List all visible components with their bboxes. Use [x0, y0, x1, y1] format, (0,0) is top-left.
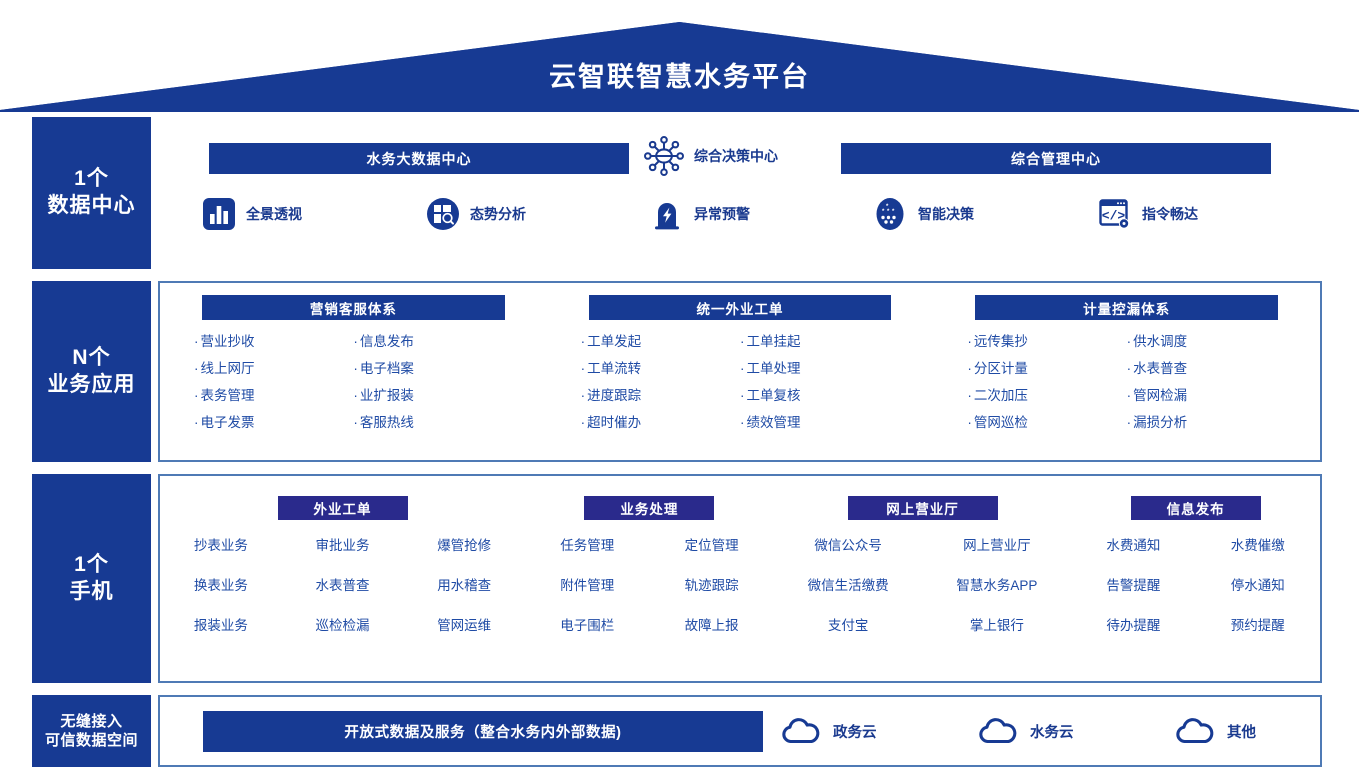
row-label-line1: N个	[72, 345, 110, 372]
list-item[interactable]: 水费催缴	[1196, 534, 1320, 554]
section-title[interactable]: 网上营业厅	[848, 496, 998, 520]
list-item-label: 信息发布	[360, 334, 414, 349]
cloud-government[interactable]: 政务云	[780, 716, 977, 746]
section-online-service-hall: 网上营业厅 微信公众号 网上营业厅 微信生活缴费 智慧水务APP 支付宝 掌上银…	[774, 476, 1071, 681]
list-item[interactable]: 定位管理	[649, 534, 773, 554]
row-label-business-applications: N个 业务应用	[32, 281, 151, 462]
row-label-data-space: 无缝接入 可信数据空间	[32, 695, 151, 767]
cloud-icon	[977, 716, 1019, 746]
list-item[interactable]: ·营业抄收	[194, 330, 353, 350]
list-item[interactable]: ·漏损分析	[1127, 411, 1286, 431]
list-item-label: 工单复核	[747, 388, 801, 403]
list-item[interactable]: 抄表业务	[160, 534, 282, 554]
list-item[interactable]: ·业扩报装	[353, 384, 512, 404]
row-body-data-center: 水务大数据中心 综合管理中心	[158, 117, 1322, 269]
list-item[interactable]: 任务管理	[525, 534, 649, 554]
alarm-bolt-icon	[650, 197, 684, 231]
section-items: ·工单发起 ·工单挂起 ·工单流转 ·工单处理 ·进度跟踪 ·工单复核 ·超时催…	[567, 330, 914, 431]
list-item[interactable]: 支付宝	[774, 614, 923, 634]
list-item-label: 漏损分析	[1133, 415, 1187, 430]
decision-center-group[interactable]: 综合决策中心	[643, 135, 778, 177]
list-item-label: 绩效管理	[747, 415, 801, 430]
section-items: 抄表业务 审批业务 爆管抢修 换表业务 水表普查 用水稽查 报装业务 巡检检漏 …	[160, 534, 525, 634]
row-label-line1: 1个	[74, 552, 109, 579]
list-item[interactable]: 报装业务	[160, 614, 282, 634]
section-business-processing: 业务处理 任务管理 定位管理 附件管理 轨迹跟踪 电子围栏 故障上报	[525, 476, 774, 681]
row-label-line2: 数据中心	[48, 193, 136, 220]
list-item[interactable]: 爆管抢修	[403, 534, 525, 554]
cloud-group: 政务云 水务云 其他	[780, 697, 1359, 765]
platform-roof: 云智联智慧水务平台	[0, 0, 1359, 112]
cloud-other-label: 其他	[1227, 721, 1256, 742]
feature-panorama-label: 全景透视	[246, 204, 302, 224]
section-items: 水费通知 水费催缴 告警提醒 停水通知 待办提醒 预约提醒	[1071, 534, 1320, 634]
list-item-label: 营业抄收	[201, 334, 255, 349]
row-label-line2: 可信数据空间	[45, 731, 138, 750]
list-item[interactable]: ·线上网厅	[194, 357, 353, 377]
list-item[interactable]: ·进度跟踪	[581, 384, 740, 404]
list-item-label: 客服热线	[360, 415, 414, 430]
list-item[interactable]: 停水通知	[1196, 574, 1320, 594]
data-center-features: 全景透视 态势分析	[202, 197, 1322, 231]
section-title[interactable]: 业务处理	[584, 496, 714, 520]
section-metering-leak-control: 计量控漏体系 ·远传集抄 ·供水调度 ·分区计量 ·水表普查 ·二次加压 ·管网…	[933, 283, 1320, 460]
list-item[interactable]: 电子围栏	[525, 614, 649, 634]
list-item[interactable]: 网上营业厅	[923, 534, 1072, 554]
list-item[interactable]: 微信生活缴费	[774, 574, 923, 594]
list-item-label: 分区计量	[974, 361, 1028, 376]
list-item[interactable]: 管网运维	[403, 614, 525, 634]
list-item-label: 管网检漏	[1133, 388, 1187, 403]
list-item-label: 进度跟踪	[587, 388, 641, 403]
list-item[interactable]: ·电子发票	[194, 411, 353, 431]
section-field-work-order: 外业工单 抄表业务 审批业务 爆管抢修 换表业务 水表普查 用水稽查 报装业务 …	[160, 476, 525, 681]
decision-center-label: 综合决策中心	[694, 146, 778, 166]
section-title[interactable]: 信息发布	[1131, 496, 1261, 520]
row-mobile: 1个 手机 外业工单 抄表业务 审批业务 爆管抢修 换表业务 水表普查 用水稽查…	[32, 474, 1322, 683]
list-item[interactable]: 微信公众号	[774, 534, 923, 554]
list-item[interactable]: 换表业务	[160, 574, 282, 594]
section-title[interactable]: 计量控漏体系	[975, 295, 1278, 320]
list-item-label: 表务管理	[201, 388, 255, 403]
ai-brain-icon: * ***	[874, 197, 908, 231]
list-item-label: 工单流转	[587, 361, 641, 376]
list-item[interactable]: ·分区计量	[967, 357, 1126, 377]
list-item-label: 管网巡检	[974, 415, 1028, 430]
feature-command-delivery[interactable]: </> 指令畅达	[1098, 197, 1322, 231]
list-item[interactable]: 巡检检漏	[282, 614, 404, 634]
row-label-line2: 手机	[70, 579, 114, 606]
row-label-mobile: 1个 手机	[32, 474, 151, 683]
list-item[interactable]: ·二次加压	[967, 384, 1126, 404]
list-item[interactable]: ·电子档案	[353, 357, 512, 377]
list-item[interactable]: ·超时催办	[581, 411, 740, 431]
cloud-government-label: 政务云	[833, 721, 877, 742]
list-item[interactable]: ·管网检漏	[1127, 384, 1286, 404]
list-item[interactable]: ·工单处理	[740, 357, 899, 377]
row-label-line1: 1个	[74, 166, 109, 193]
list-item[interactable]: ·供水调度	[1127, 330, 1286, 350]
list-item-label: 工单发起	[587, 334, 641, 349]
feature-anomaly-alert-label: 异常预警	[694, 204, 750, 224]
list-item-label: 业扩报装	[360, 388, 414, 403]
bar-big-data-center[interactable]: 水务大数据中心	[209, 143, 629, 174]
section-marketing-service: 营销客服体系 ·营业抄收 ·信息发布 ·线上网厅 ·电子档案 ·表务管理 ·业扩…	[160, 283, 547, 460]
feature-anomaly-alert[interactable]: 异常预警	[650, 197, 874, 231]
list-item[interactable]: 告警提醒	[1071, 574, 1195, 594]
list-item[interactable]: 掌上银行	[923, 614, 1072, 634]
cloud-icon	[1174, 716, 1216, 746]
list-item-label: 远传集抄	[974, 334, 1028, 349]
list-item[interactable]: ·表务管理	[194, 384, 353, 404]
section-unified-field-work-order: 统一外业工单 ·工单发起 ·工单挂起 ·工单流转 ·工单处理 ·进度跟踪 ·工单…	[547, 283, 934, 460]
list-item[interactable]: 附件管理	[525, 574, 649, 594]
list-item[interactable]: 预约提醒	[1196, 614, 1320, 634]
row-body-data-space: 开放式数据及服务（整合水务内外部数据) 政务云	[158, 695, 1322, 767]
section-title[interactable]: 统一外业工单	[589, 295, 892, 320]
list-item[interactable]: 水费通知	[1071, 534, 1195, 554]
section-items: 任务管理 定位管理 附件管理 轨迹跟踪 电子围栏 故障上报	[525, 534, 774, 634]
list-item[interactable]: 轨迹跟踪	[649, 574, 773, 594]
cloud-water-affairs[interactable]: 水务云	[977, 716, 1174, 746]
list-item[interactable]: ·客服热线	[353, 411, 512, 431]
feature-intelligent-decision-label: 智能决策	[918, 204, 974, 224]
cloud-icon	[780, 716, 822, 746]
list-item-label: 电子档案	[360, 361, 414, 376]
row-label-line1: 无缝接入	[60, 712, 122, 731]
row-data-center: 1个 数据中心 水务大数据中心 综合管理中心	[32, 117, 1322, 269]
list-item-label: 工单挂起	[747, 334, 801, 349]
feature-panorama[interactable]: 全景透视	[202, 197, 426, 231]
row-body-business-applications: 营销客服体系 ·营业抄收 ·信息发布 ·线上网厅 ·电子档案 ·表务管理 ·业扩…	[158, 281, 1322, 462]
list-item[interactable]: ·工单挂起	[740, 330, 899, 350]
bar-open-data-services[interactable]: 开放式数据及服务（整合水务内外部数据)	[203, 711, 763, 752]
list-item[interactable]: ·水表普查	[1127, 357, 1286, 377]
list-item-label: 二次加压	[974, 388, 1028, 403]
architecture-diagram: 云智联智慧水务平台 1个 数据中心 水务大数据中心 综合管理中心	[0, 0, 1359, 783]
section-title[interactable]: 外业工单	[278, 496, 408, 520]
list-item[interactable]: ·信息发布	[353, 330, 512, 350]
cloud-other[interactable]: 其他	[1174, 716, 1359, 746]
row-data-space: 无缝接入 可信数据空间 开放式数据及服务（整合水务内外部数据) 政务云	[32, 695, 1322, 767]
feature-situation-analysis-label: 态势分析	[470, 204, 526, 224]
list-item[interactable]: 故障上报	[649, 614, 773, 634]
list-item-label: 线上网厅	[201, 361, 255, 376]
feature-command-delivery-label: 指令畅达	[1142, 204, 1198, 224]
cloud-water-affairs-label: 水务云	[1030, 721, 1074, 742]
list-item-label: 供水调度	[1133, 334, 1187, 349]
list-item[interactable]: 用水稽查	[403, 574, 525, 594]
network-hub-icon	[643, 135, 685, 177]
feature-intelligent-decision[interactable]: * *** 智能决策	[874, 197, 1098, 231]
list-item[interactable]: 审批业务	[282, 534, 404, 554]
row-body-mobile: 外业工单 抄表业务 审批业务 爆管抢修 换表业务 水表普查 用水稽查 报装业务 …	[158, 474, 1322, 683]
row-label-data-center: 1个 数据中心	[32, 117, 151, 269]
list-item[interactable]: ·工单复核	[740, 384, 899, 404]
list-item[interactable]: ·绩效管理	[740, 411, 899, 431]
list-item[interactable]: ·工单流转	[581, 357, 740, 377]
row-business-applications: N个 业务应用 营销客服体系 ·营业抄收 ·信息发布 ·线上网厅 ·电子档案 ·…	[32, 281, 1322, 462]
section-title[interactable]: 营销客服体系	[202, 295, 505, 320]
section-information-release: 信息发布 水费通知 水费催缴 告警提醒 停水通知 待办提醒 预约提醒	[1071, 476, 1320, 681]
row-label-line2: 业务应用	[48, 372, 136, 399]
page-title: 云智联智慧水务平台	[0, 55, 1359, 94]
list-item[interactable]: 智慧水务APP	[923, 574, 1072, 594]
list-item[interactable]: ·工单发起	[581, 330, 740, 350]
grid-search-icon	[426, 197, 460, 231]
bar-chart-icon	[202, 197, 236, 231]
list-item-label: 电子发票	[201, 415, 255, 430]
code-window-gear-icon: </>	[1098, 197, 1132, 231]
feature-situation-analysis[interactable]: 态势分析	[426, 197, 650, 231]
section-items: ·营业抄收 ·信息发布 ·线上网厅 ·电子档案 ·表务管理 ·业扩报装 ·电子发…	[180, 330, 527, 431]
section-items: ·远传集抄 ·供水调度 ·分区计量 ·水表普查 ·二次加压 ·管网检漏 ·管网巡…	[953, 330, 1300, 431]
list-item-label: 超时催办	[587, 415, 641, 430]
list-item[interactable]: 水表普查	[282, 574, 404, 594]
bar-integrated-management-center[interactable]: 综合管理中心	[841, 143, 1271, 174]
list-item-label: 水表普查	[1133, 361, 1187, 376]
list-item-label: 工单处理	[747, 361, 801, 376]
list-item[interactable]: ·管网巡检	[967, 411, 1126, 431]
list-item[interactable]: 待办提醒	[1071, 614, 1195, 634]
section-items: 微信公众号 网上营业厅 微信生活缴费 智慧水务APP 支付宝 掌上银行	[774, 534, 1071, 634]
list-item[interactable]: ·远传集抄	[967, 330, 1126, 350]
